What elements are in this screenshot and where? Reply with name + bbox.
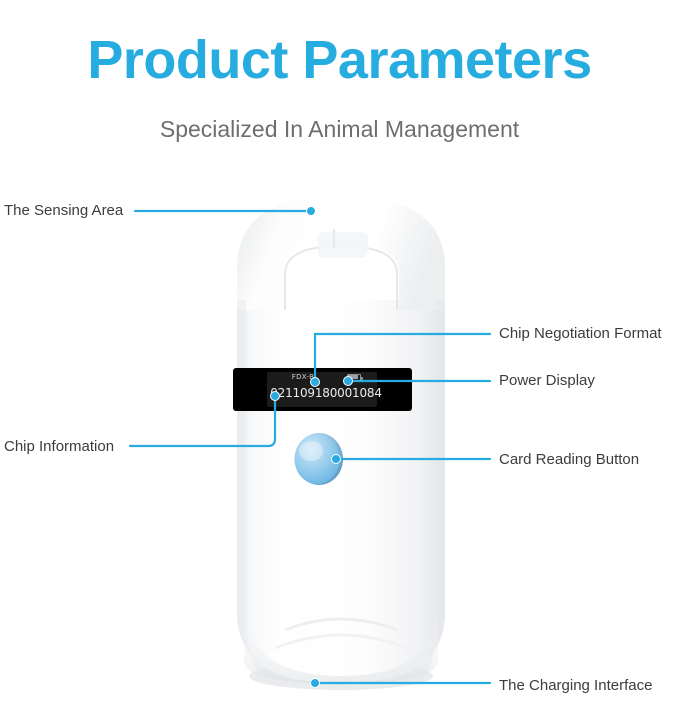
hook-latch bbox=[318, 232, 368, 258]
device-illustration: FDX-B 021109180001084 bbox=[0, 0, 679, 704]
card-reading-button-highlight bbox=[299, 441, 323, 461]
device-main-body bbox=[237, 300, 445, 684]
callout-label-charging-interface: The Charging Interface bbox=[499, 678, 652, 693]
battery-icon-fill bbox=[348, 375, 358, 379]
callout-label-chip-information: Chip Information bbox=[4, 439, 114, 454]
device-screen: FDX-B 021109180001084 bbox=[233, 368, 412, 411]
battery-icon-cap bbox=[361, 377, 363, 380]
device-body-svg bbox=[0, 0, 679, 704]
battery-icon bbox=[347, 374, 364, 382]
callout-label-card-reading-button: Card Reading Button bbox=[499, 452, 639, 467]
callout-label-sensing-area: The Sensing Area bbox=[4, 203, 123, 218]
callout-label-power-display: Power Display bbox=[499, 373, 595, 388]
screen-format-label: FDX-B bbox=[267, 373, 339, 381]
callout-label-chip-negotiation-format: Chip Negotiation Format bbox=[499, 326, 662, 341]
screen-chip-number: 021109180001084 bbox=[261, 386, 391, 400]
